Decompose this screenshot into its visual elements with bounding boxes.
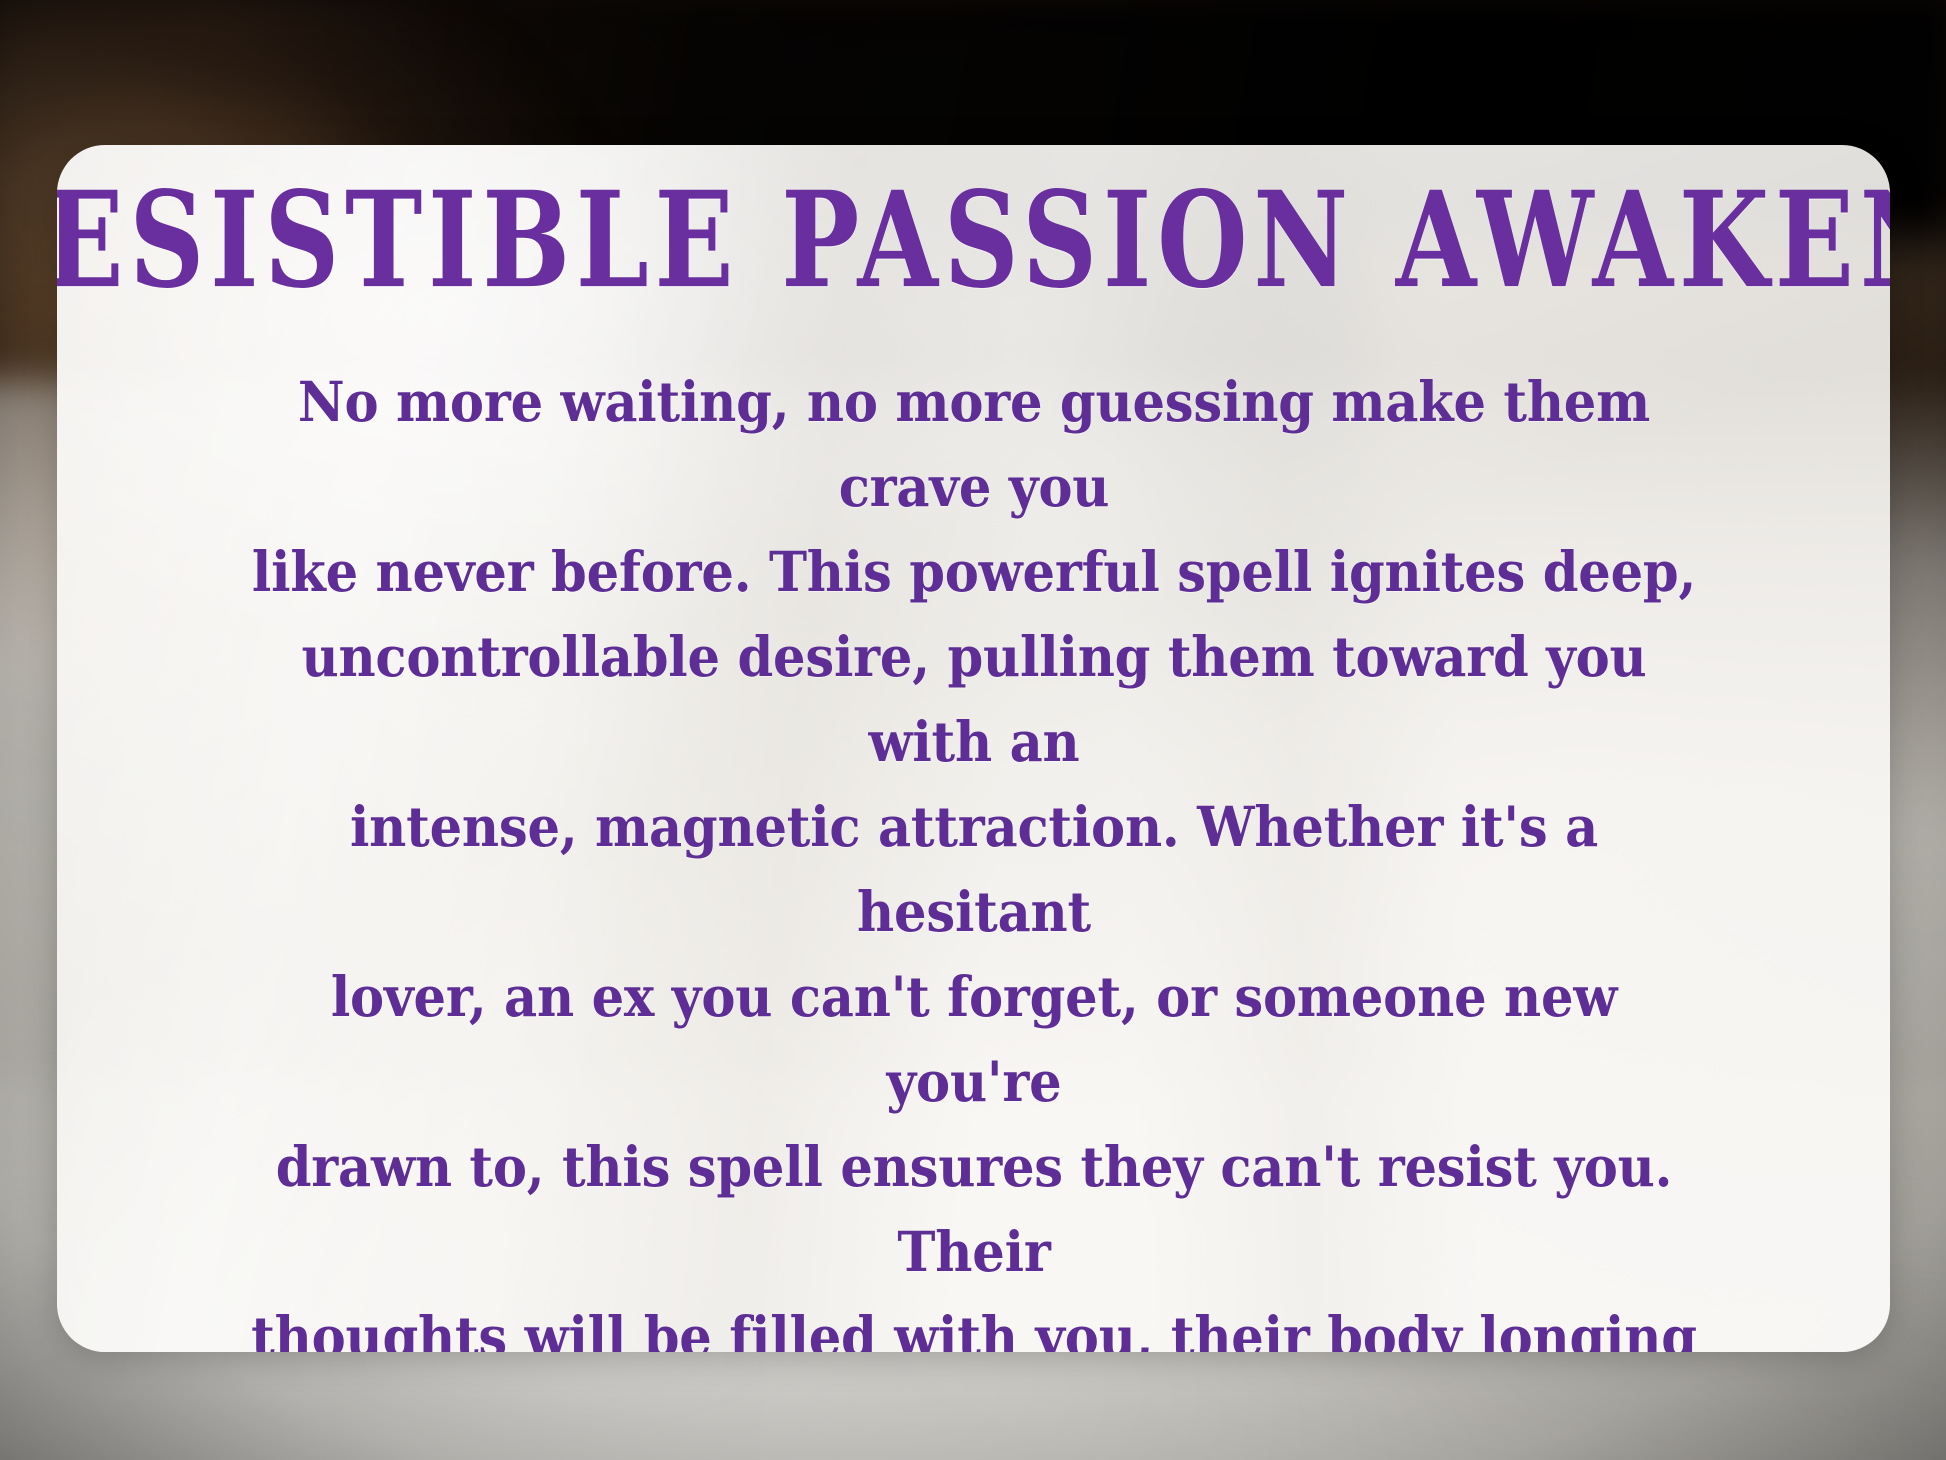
card-content: IRRESISTIBLE PASSION AWAKENED No more wa… xyxy=(111,145,1836,1352)
body-paragraph: No more waiting, no more guessing make t… xyxy=(248,289,1699,1352)
page-title: IRRESISTIBLE PASSION AWAKENED xyxy=(57,145,1890,306)
frosted-content-card: IRRESISTIBLE PASSION AWAKENED No more wa… xyxy=(57,145,1890,1352)
poster-canvas: IRRESISTIBLE PASSION AWAKENED No more wa… xyxy=(0,0,1946,1460)
